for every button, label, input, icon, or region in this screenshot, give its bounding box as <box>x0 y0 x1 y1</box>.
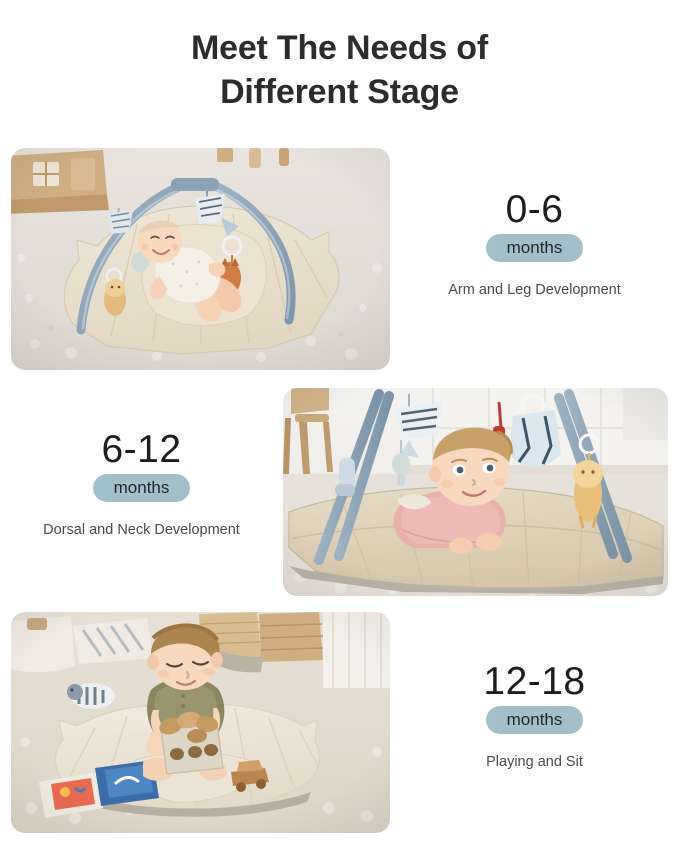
stage-unit-pill-6-12-months: months <box>93 474 191 502</box>
stage-text-0-6-months: 0-6 months Arm and Leg Development <box>390 188 679 330</box>
stage-age-12-18-months: 12-18 <box>400 660 669 704</box>
page-title-line-2: Different Stage <box>0 70 679 114</box>
stage-photo-6-12-months <box>283 388 668 596</box>
stage-age-6-12-months: 6-12 <box>10 428 273 472</box>
stage-infographic-page: Meet The Needs of Different Stage <box>0 0 679 849</box>
stage-text-6-12-months: 6-12 months Dorsal and Neck Development <box>0 428 283 556</box>
baby-on-back-playmat-illustration <box>11 148 390 370</box>
stage-row-0-6-months: 0-6 months Arm and Leg Development <box>0 148 679 370</box>
page-title-line-1: Meet The Needs of <box>0 26 679 70</box>
page-title: Meet The Needs of Different Stage <box>0 26 679 114</box>
stage-unit-pill-0-6-months: months <box>486 234 584 262</box>
stage-description-0-6-months: Arm and Leg Development <box>400 280 669 300</box>
toddler-sitting-playing-illustration <box>11 612 390 833</box>
stage-text-12-18-months: 12-18 months Playing and Sit <box>390 660 679 786</box>
baby-tummy-time-illustration <box>283 388 668 596</box>
stage-row-6-12-months: 6-12 months Dorsal and Neck Development <box>0 388 679 596</box>
stage-description-12-18-months: Playing and Sit <box>400 752 669 772</box>
stage-unit-pill-12-18-months: months <box>486 706 584 734</box>
stage-photo-0-6-months <box>11 148 390 370</box>
stage-description-6-12-months: Dorsal and Neck Development <box>10 520 273 540</box>
stage-age-0-6-months: 0-6 <box>400 188 669 232</box>
stage-photo-12-18-months <box>11 612 390 833</box>
stage-row-12-18-months: 12-18 months Playing and Sit <box>0 612 679 833</box>
